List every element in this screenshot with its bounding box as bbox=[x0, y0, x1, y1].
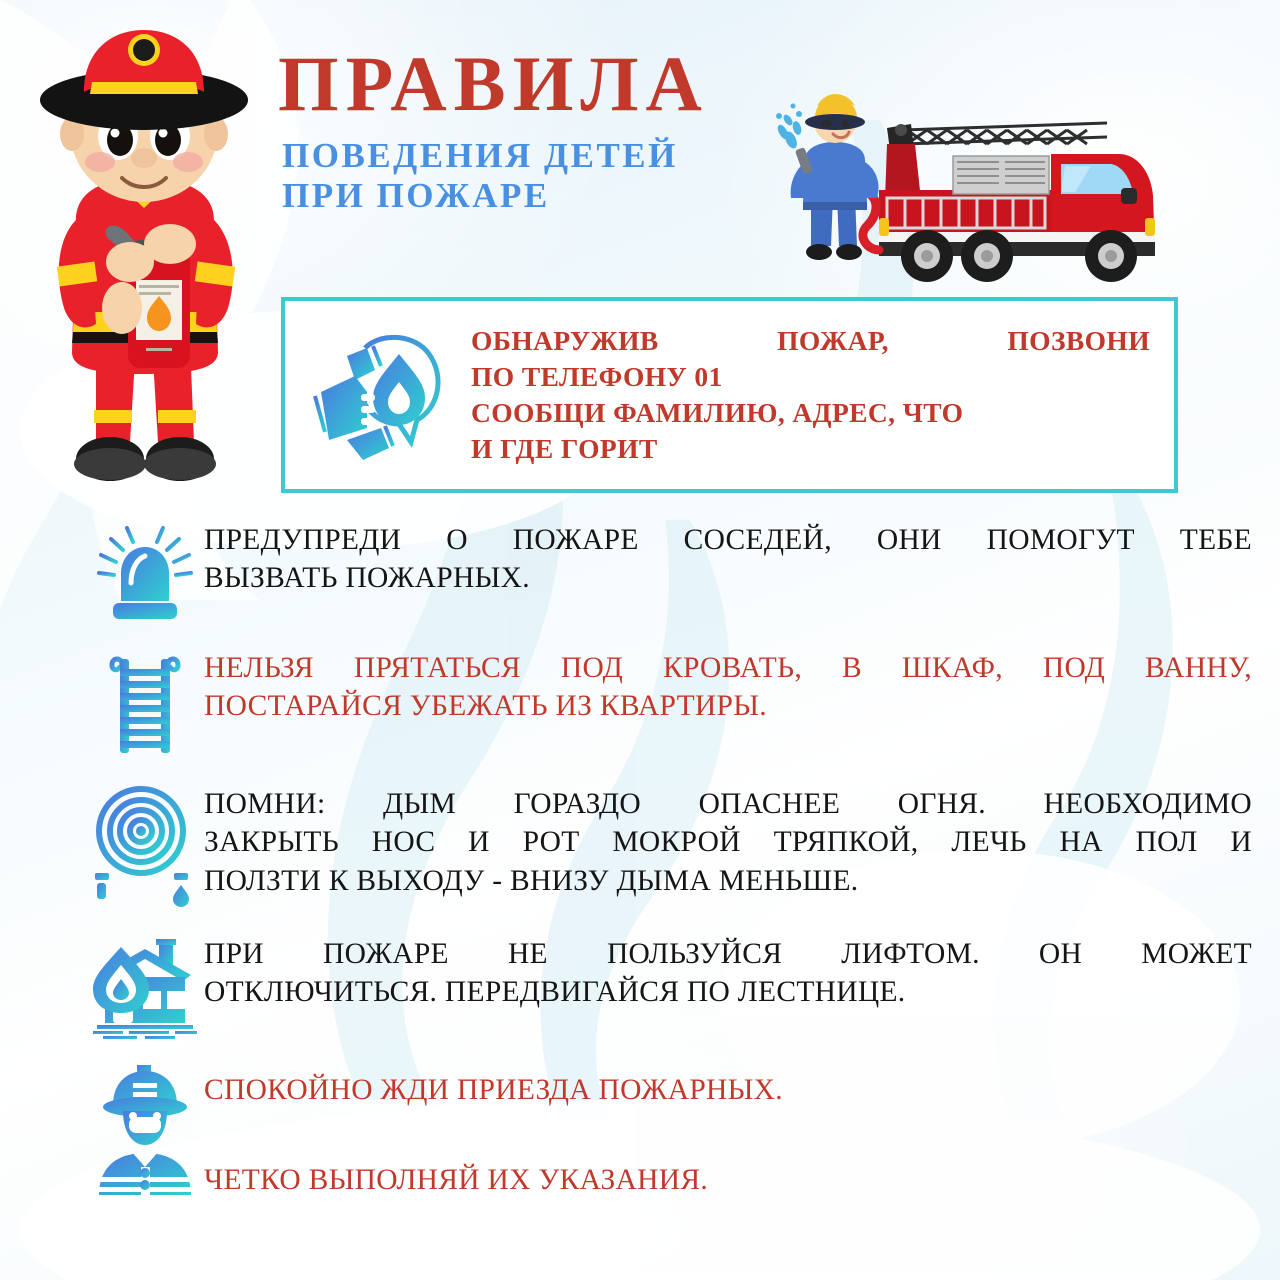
burning-house-glyph bbox=[93, 935, 197, 1039]
burning-house-icon bbox=[86, 935, 204, 1039]
rule-line: ПОМНИ: ДЫМ ГОРАЗДО ОПАСНЕЕ ОГНЯ. НЕОБХОД… bbox=[204, 785, 1252, 823]
rule-text: НЕЛЬЗЯ ПРЯТАТЬСЯ ПОД КРОВАТЬ, В ШКАФ, ПО… bbox=[204, 649, 1266, 726]
fire-hose-reel-icon bbox=[86, 785, 204, 907]
callout-line-2: ПО ТЕЛЕФОНУ 01 bbox=[471, 359, 1150, 395]
fire-hose-reel-glyph bbox=[95, 785, 195, 907]
emergency-callout-text: ОБНАРУЖИВ ПОЖАР, ПОЗВОНИ ПО ТЕЛЕФОНУ 01 … bbox=[471, 323, 1150, 467]
rule-line: ПОЛЗТИ К ВЫХОДУ - ВНИЗУ ДЫМА МЕНЬШЕ. bbox=[204, 862, 1252, 900]
rule-item: СПОКОЙНО ЖДИ ПРИЕЗДА ПОЖАРНЫХ. ЧЕТКО ВЫП… bbox=[86, 1061, 1266, 1201]
rule-line: ЧЕТКО ВЫПОЛНЯЙ ИХ УКАЗАНИЯ. bbox=[204, 1161, 1252, 1199]
page-subtitle: ПОВЕДЕНИЯ ДЕТЕЙ ПРИ ПОЖАРЕ bbox=[282, 136, 709, 214]
rule-line: ПРИ ПОЖАРЕ НЕ ПОЛЬЗУЙСЯ ЛИФТОМ. ОН МОЖЕТ bbox=[204, 935, 1252, 973]
fire-truck-figure bbox=[775, 92, 1175, 287]
page-subtitle-line-1: ПОВЕДЕНИЯ ДЕТЕЙ bbox=[282, 136, 709, 175]
rule-item: ПРЕДУПРЕДИ О ПОЖАРЕ СОСЕДЕЙ, ОНИ ПОМОГУТ… bbox=[86, 521, 1266, 625]
rule-text: ПОМНИ: ДЫМ ГОРАЗДО ОПАСНЕЕ ОГНЯ. НЕОБХОД… bbox=[204, 785, 1266, 900]
rules-list: ПРЕДУПРЕДИ О ПОЖАРЕ СОСЕДЕЙ, ОНИ ПОМОГУТ… bbox=[86, 521, 1266, 1201]
siren-alarm-icon bbox=[86, 521, 204, 625]
callout-line-3: СООБЩИ ФАМИЛИЮ, АДРЕС, ЧТО bbox=[471, 395, 1150, 431]
rule-item: НЕЛЬЗЯ ПРЯТАТЬСЯ ПОД КРОВАТЬ, В ШКАФ, ПО… bbox=[86, 649, 1266, 757]
callout-line-1: ОБНАРУЖИВ ПОЖАР, ПОЗВОНИ bbox=[471, 323, 1150, 359]
page-title: ПРАВИЛА bbox=[278, 46, 709, 122]
rule-line: ОТКЛЮЧИТЬСЯ. ПЕРЕДВИГАЙСЯ ПО ЛЕСТНИЦЕ. bbox=[204, 973, 1252, 1011]
firefighter-person-icon bbox=[86, 1061, 204, 1201]
page-subtitle-line-2: ПРИ ПОЖАРЕ bbox=[282, 176, 709, 215]
hand-phone-flame-icon bbox=[307, 320, 457, 470]
rule-item: ПОМНИ: ДЫМ ГОРАЗДО ОПАСНЕЕ ОГНЯ. НЕОБХОД… bbox=[86, 785, 1266, 907]
rule-item: ПРИ ПОЖАРЕ НЕ ПОЛЬЗУЙСЯ ЛИФТОМ. ОН МОЖЕТ… bbox=[86, 935, 1266, 1039]
siren-alarm-glyph bbox=[97, 521, 193, 625]
ladder-icon bbox=[86, 649, 204, 757]
boy-firefighter-illustration bbox=[18, 12, 270, 502]
hand-phone-flame-glyph bbox=[307, 320, 457, 470]
fire-truck-illustration bbox=[775, 92, 1175, 287]
firefighter-person-glyph bbox=[93, 1061, 197, 1201]
callout-line-4: И ГДЕ ГОРИТ bbox=[471, 431, 1150, 467]
rule-line: ПРЕДУПРЕДИ О ПОЖАРЕ СОСЕДЕЙ, ОНИ ПОМОГУТ… bbox=[204, 521, 1252, 559]
rule-text-pair: СПОКОЙНО ЖДИ ПРИЕЗДА ПОЖАРНЫХ. ЧЕТКО ВЫП… bbox=[204, 1061, 1266, 1200]
rule-line: ПОСТАРАЙСЯ УБЕЖАТЬ ИЗ КВАРТИРЫ. bbox=[204, 687, 1252, 725]
rule-line: СПОКОЙНО ЖДИ ПРИЕЗДА ПОЖАРНЫХ. bbox=[204, 1071, 1252, 1109]
rule-line: ВЫЗВАТЬ ПОЖАРНЫХ. bbox=[204, 559, 1252, 597]
ladder-glyph bbox=[102, 649, 188, 757]
rule-line: ЗАКРЫТЬ НОС И РОТ МОКРОЙ ТРЯПКОЙ, ЛЕЧЬ Н… bbox=[204, 823, 1252, 861]
poster-title-block: ПРАВИЛА ПОВЕДЕНИЯ ДЕТЕЙ ПРИ ПОЖАРЕ bbox=[278, 46, 709, 215]
rule-text: ПРИ ПОЖАРЕ НЕ ПОЛЬЗУЙСЯ ЛИФТОМ. ОН МОЖЕТ… bbox=[204, 935, 1266, 1012]
rule-text: ПРЕДУПРЕДИ О ПОЖАРЕ СОСЕДЕЙ, ОНИ ПОМОГУТ… bbox=[204, 521, 1266, 598]
rule-line: НЕЛЬЗЯ ПРЯТАТЬСЯ ПОД КРОВАТЬ, В ШКАФ, ПО… bbox=[204, 649, 1252, 687]
boy-firefighter-figure bbox=[18, 12, 270, 502]
emergency-callout-box: ОБНАРУЖИВ ПОЖАР, ПОЗВОНИ ПО ТЕЛЕФОНУ 01 … bbox=[281, 297, 1178, 493]
